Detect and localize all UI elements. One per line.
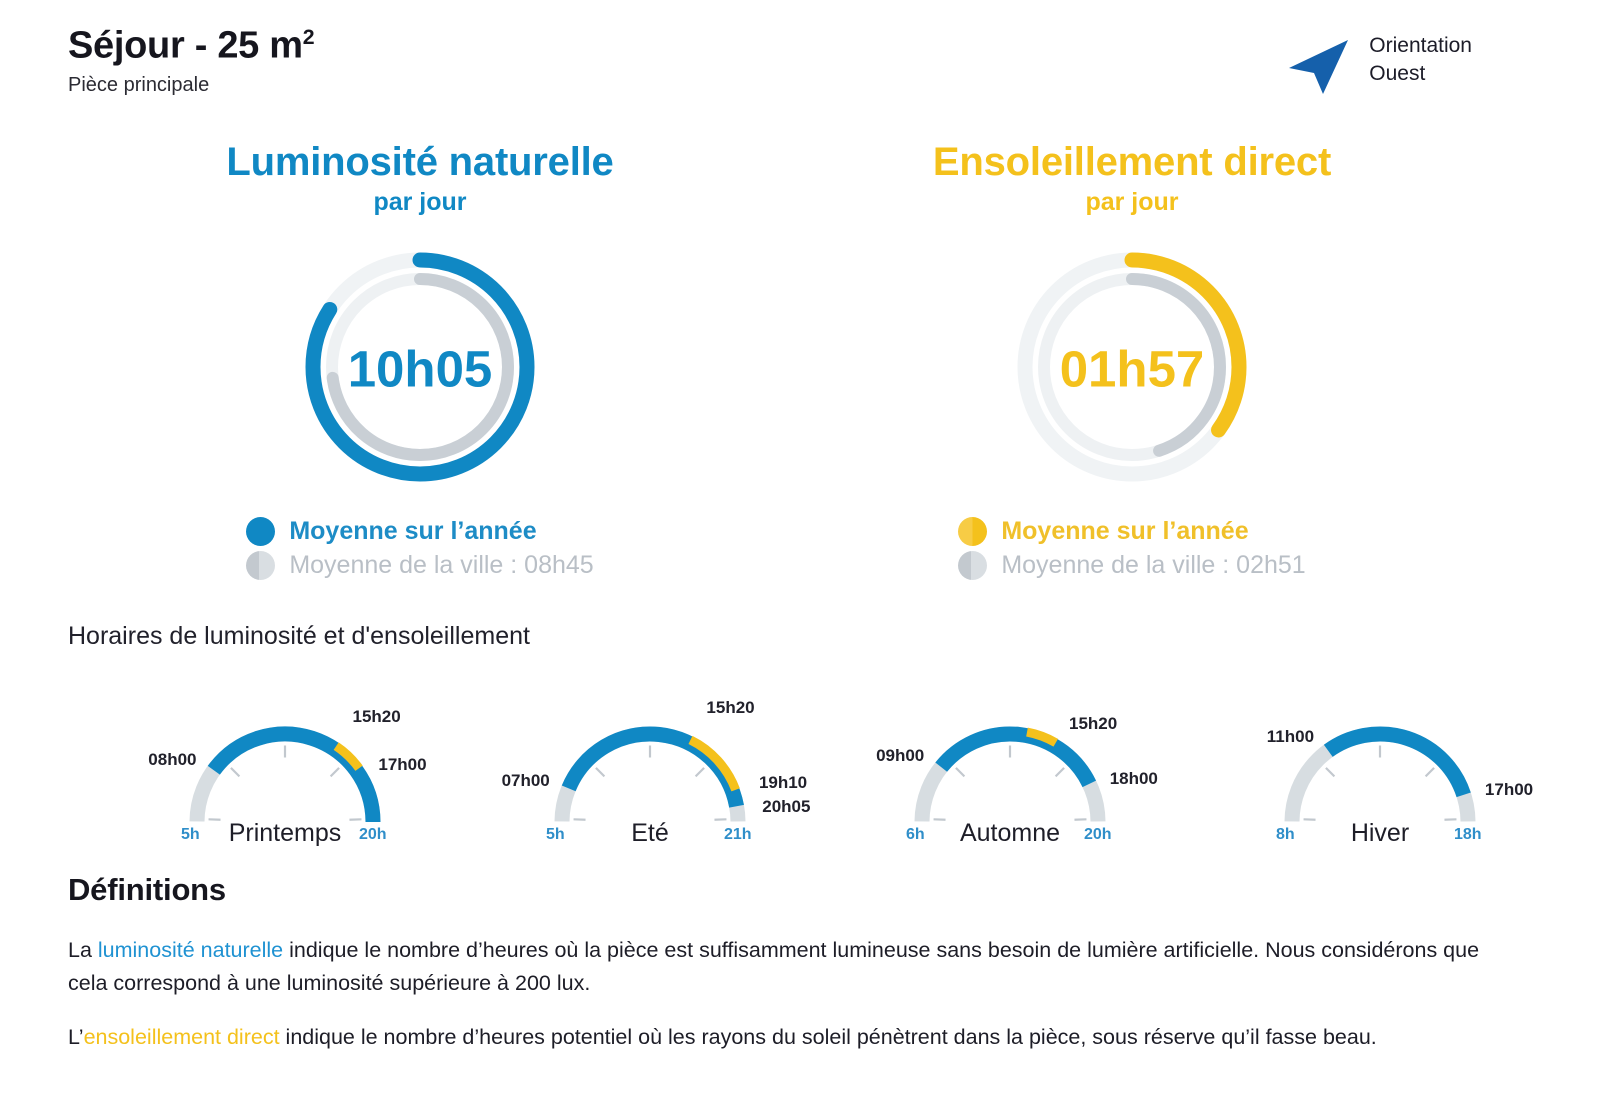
gauge-daylight-arc [214,734,373,822]
gauge-time-label: 08h00 [148,750,196,770]
gauge-time-label: 20h05 [762,797,810,817]
legend-row-year: Moyenne sur l’année [958,517,1305,546]
donut-value-label: 01h57 [987,339,1277,398]
legend-ensoleillement: Moyenne sur l’année Moyenne de la ville … [958,517,1305,580]
gauge-tick [231,768,239,776]
gauge-tick [331,768,339,776]
gauge-tick [1426,768,1434,776]
def1-prefix: La [68,938,98,962]
def2-body: indique le nombre d’heures potentiel où … [280,1025,1377,1049]
gauge-season-name: Hiver [1190,819,1570,848]
legend-year-label: Moyenne sur l’année [1001,517,1248,546]
season-gauges-row: 08h0015h2017h005h20hPrintemps07h0015h201… [0,690,1600,850]
page-title: Séjour - 25 m2 [68,26,314,67]
legend-swatch-city-icon [958,551,987,580]
def1-highlight: luminosité naturelle [98,938,283,962]
gauge-time-label: 19h10 [759,773,807,793]
metric-ensoleillement-direct: Ensoleillement direct par jour 01h57 Moy… [822,140,1442,585]
gauge-tick [956,768,964,776]
donut-chart-ensoleillement: 01h57 [987,245,1277,495]
schedules-heading: Horaires de luminosité et d'ensoleilleme… [68,622,530,651]
gauge-tick [596,768,604,776]
gauge-time-label: 15h20 [706,698,754,718]
metric-luminosite-naturelle: Luminosité naturelle par jour 10h05 [110,140,730,585]
gauge-season-name: Eté [460,819,840,848]
gauge-time-label: 17h00 [1485,780,1533,800]
def2-highlight: ensoleillement direct [84,1025,280,1049]
metric-title: Ensoleillement direct [822,140,1442,184]
legend-swatch-year-icon [958,517,987,546]
solar-report-page: Séjour - 25 m2 Pièce principale Orientat… [0,0,1600,1115]
page-header: Séjour - 25 m2 Pièce principale [68,26,314,97]
legend-year-label: Moyenne sur l’année [289,517,536,546]
definition-paragraph-luminosite: La luminosité naturelle indique le nombr… [68,934,1518,1001]
season-gauge-automne: 09h0015h2018h006h20hAutomne [820,690,1200,850]
donut-value-label: 10h05 [275,339,565,398]
gauge-tick [696,768,704,776]
definition-paragraph-ensoleillement: L’ensoleillement direct indique le nombr… [68,1021,1518,1054]
gauge-daylight-arc [1328,734,1463,795]
orientation-value: Ouest [1369,60,1472,88]
metric-title: Luminosité naturelle [110,140,730,184]
gauge-season-name: Automne [820,819,1200,848]
legend-row-city: Moyenne de la ville : 02h51 [958,551,1305,580]
navigation-arrow-icon [1287,38,1351,96]
gauge-daylight-arc [569,734,737,806]
season-gauge-et: 07h0015h2019h1020h055h21hEté [460,690,840,850]
legend-row-year: Moyenne sur l’année [246,517,593,546]
definitions-heading: Définitions [68,872,1518,908]
gauge-time-label: 15h20 [353,707,401,727]
season-gauge-hiver: 11h0017h008h18hHiver [1190,690,1570,850]
gauge-time-label: 17h00 [378,755,426,775]
legend-swatch-city-icon [246,551,275,580]
orientation-indicator: Orientation Ouest [1287,32,1472,96]
room-subtitle: Pièce principale [68,74,314,97]
season-gauge-printemps: 08h0015h2017h005h20hPrintemps [95,690,475,850]
legend-luminosite: Moyenne sur l’année Moyenne de la ville … [246,517,593,580]
orientation-label: Orientation [1369,32,1472,60]
orientation-text: Orientation Ouest [1369,32,1472,88]
legend-row-city: Moyenne de la ville : 08h45 [246,551,593,580]
legend-city-label: Moyenne de la ville : 02h51 [1001,551,1305,580]
gauge-time-label: 18h00 [1110,769,1158,789]
metric-subtitle: par jour [822,188,1442,217]
metric-subtitle: par jour [110,188,730,217]
gauge-season-name: Printemps [95,819,475,848]
metrics-row: Luminosité naturelle par jour 10h05 [0,140,1600,590]
square-meter-exponent: 2 [303,25,315,49]
gauge-time-label: 11h00 [1267,727,1314,747]
definitions-section: Définitions La luminosité naturelle indi… [68,872,1518,1054]
def2-prefix: L’ [68,1025,84,1049]
gauge-tick [1056,768,1064,776]
gauge-time-label: 09h00 [876,746,924,766]
gauge-time-label: 07h00 [502,771,550,791]
legend-city-label: Moyenne de la ville : 08h45 [289,551,593,580]
legend-swatch-year-icon [246,517,275,546]
donut-chart-luminosite: 10h05 [275,245,565,495]
room-title-text: Séjour - 25 m [68,25,303,67]
gauge-time-label: 15h20 [1069,714,1117,734]
gauge-tick [1326,768,1334,776]
